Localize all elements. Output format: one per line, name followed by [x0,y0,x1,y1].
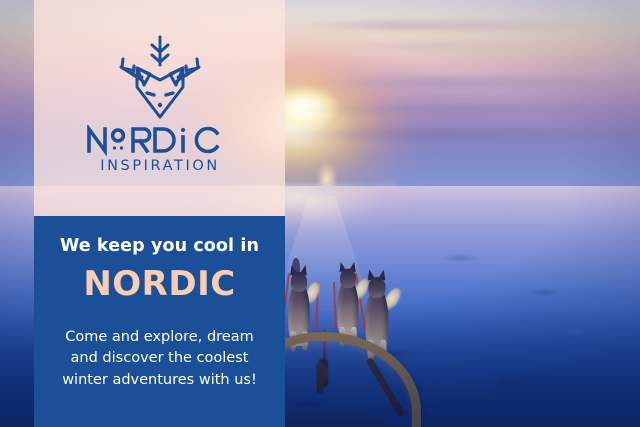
headline: We keep you cool in [50,236,269,257]
logo-panel: INSPIRATION [34,0,285,216]
subcopy-line: Come and explore, dream [65,329,253,345]
message-panel: We keep you cool in NORDIC Come and expl… [34,216,285,427]
left-photo-strip [0,0,34,427]
brand-word: NORDIC [50,267,269,303]
subcopy-line: and discover the coolest [71,350,249,366]
svg-text:INSPIRATION: INSPIRATION [100,158,220,174]
brand-logo: INSPIRATION [83,35,237,175]
subcopy-line: winter adventures with us! [62,372,257,388]
brand-wordmark: INSPIRATION [83,125,237,175]
subcopy: Come and explore, dream and discover the… [50,327,269,392]
nordic-inspiration-banner: INSPIRATION We keep you cool in NORDIC C… [0,0,640,427]
fox-snowflake-icon [107,35,213,121]
